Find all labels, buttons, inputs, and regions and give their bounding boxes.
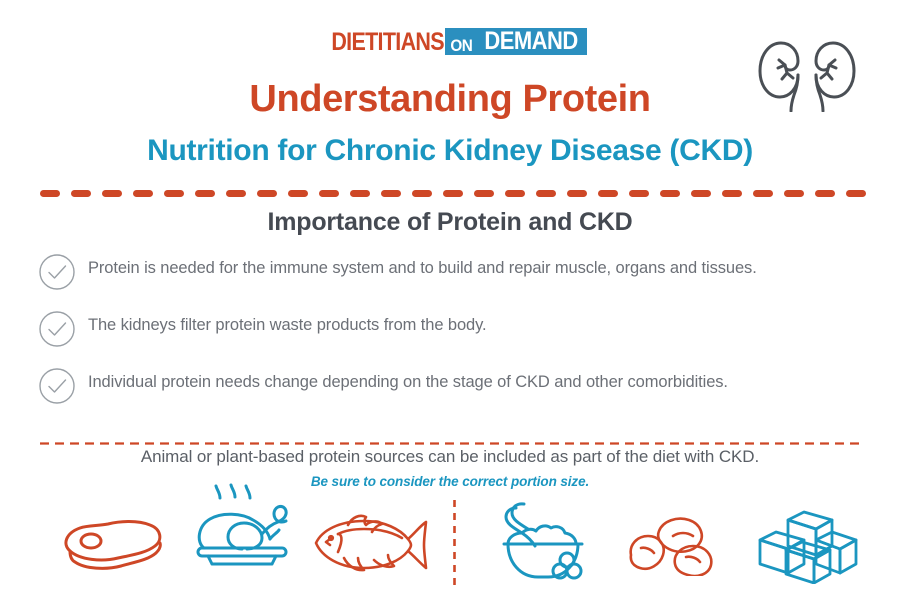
- dash: [443, 190, 463, 197]
- list-item: The kidneys filter protein waste product…: [38, 309, 868, 348]
- dash: [598, 190, 618, 197]
- page-subtitle: Nutrition for Chronic Kidney Disease (CK…: [0, 134, 900, 168]
- list-item: Protein is needed for the immune system …: [38, 252, 868, 291]
- logo-demand-text: DEMAND: [484, 29, 577, 54]
- dash: [71, 190, 91, 197]
- dash: [660, 190, 680, 197]
- bullet-list: Protein is needed for the immune system …: [38, 252, 868, 423]
- dash: [350, 190, 370, 197]
- dash: [536, 190, 556, 197]
- check-circle-icon: [38, 367, 76, 405]
- dash: [629, 190, 649, 197]
- dash: [567, 190, 587, 197]
- food-icon-row: [0, 498, 900, 593]
- check-circle-icon: [38, 310, 76, 348]
- dash: [288, 190, 308, 197]
- roast-turkey-icon: [190, 482, 300, 579]
- page-title: Understanding Protein: [0, 78, 900, 121]
- list-item-label: Protein is needed for the immune system …: [88, 252, 757, 280]
- dash: [691, 190, 711, 197]
- dash: [40, 190, 60, 197]
- divider-thick: [40, 190, 866, 197]
- beans-icon: [625, 514, 725, 581]
- list-item: Individual protein needs change dependin…: [38, 366, 868, 405]
- dash: [164, 190, 184, 197]
- list-item-label: The kidneys filter protein waste product…: [88, 309, 487, 337]
- dash: [784, 190, 804, 197]
- dash: [474, 190, 494, 197]
- dash: [195, 190, 215, 197]
- dash: [412, 190, 432, 197]
- dash: [257, 190, 277, 197]
- dash: [226, 190, 246, 197]
- footer-statement: Animal or plant-based protein sources ca…: [0, 447, 900, 467]
- dash: [133, 190, 153, 197]
- infographic-page: DIETITIANS ON DEMAND Understanding Prote…: [0, 0, 900, 600]
- dash: [102, 190, 122, 197]
- tofu-cubes-icon: [752, 506, 860, 589]
- dash: [722, 190, 742, 197]
- list-item-label: Individual protein needs change dependin…: [88, 366, 728, 394]
- logo-ondemand-block: ON DEMAND: [445, 28, 586, 55]
- dash: [753, 190, 773, 197]
- logo-dietitians-text: DIETITIANS: [332, 30, 445, 55]
- check-circle-icon: [38, 253, 76, 291]
- logo-on-text: ON: [451, 37, 476, 54]
- dash: [381, 190, 401, 197]
- divider-thin: [40, 432, 860, 435]
- bowl-of-peas-icon: [490, 500, 600, 591]
- steak-icon: [58, 512, 168, 579]
- dash: [505, 190, 525, 197]
- footer-note: Be sure to consider the correct portion …: [0, 474, 900, 489]
- dash: [319, 190, 339, 197]
- fish-icon: [308, 512, 430, 579]
- dash: [815, 190, 835, 197]
- section-heading: Importance of Protein and CKD: [0, 208, 900, 237]
- dash: [846, 190, 866, 197]
